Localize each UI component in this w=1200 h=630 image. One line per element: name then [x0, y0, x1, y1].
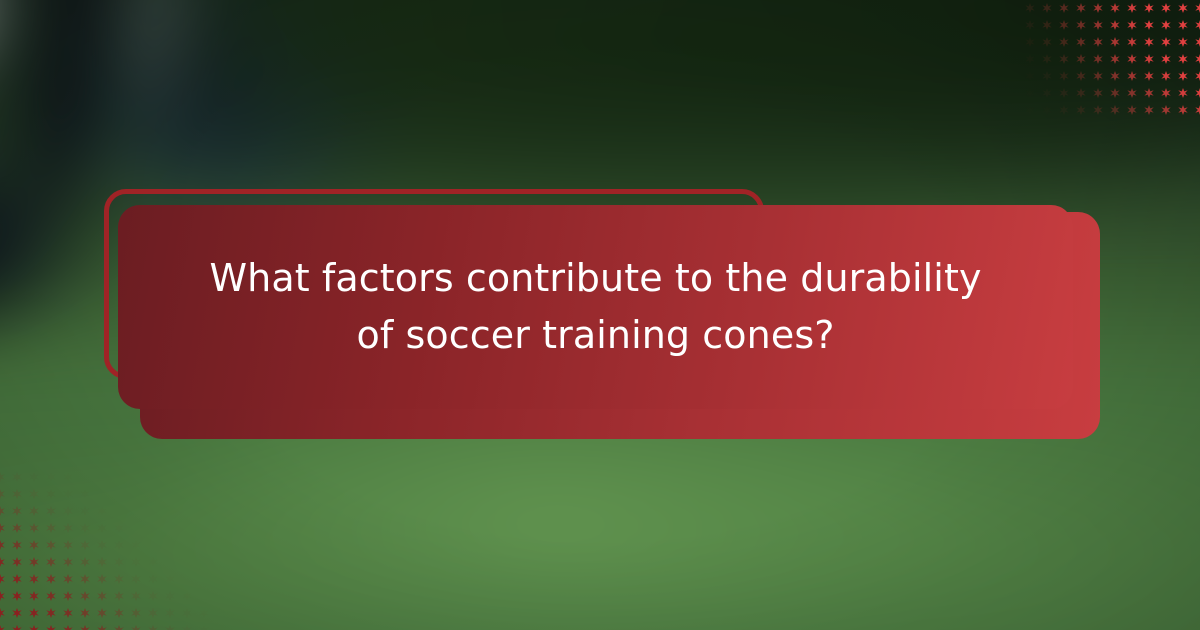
question-card[interactable]: What factors contribute to the durabilit…	[118, 205, 1073, 409]
page-root: What factors contribute to the durabilit…	[0, 0, 1200, 630]
question-title: What factors contribute to the durabilit…	[146, 250, 1046, 364]
